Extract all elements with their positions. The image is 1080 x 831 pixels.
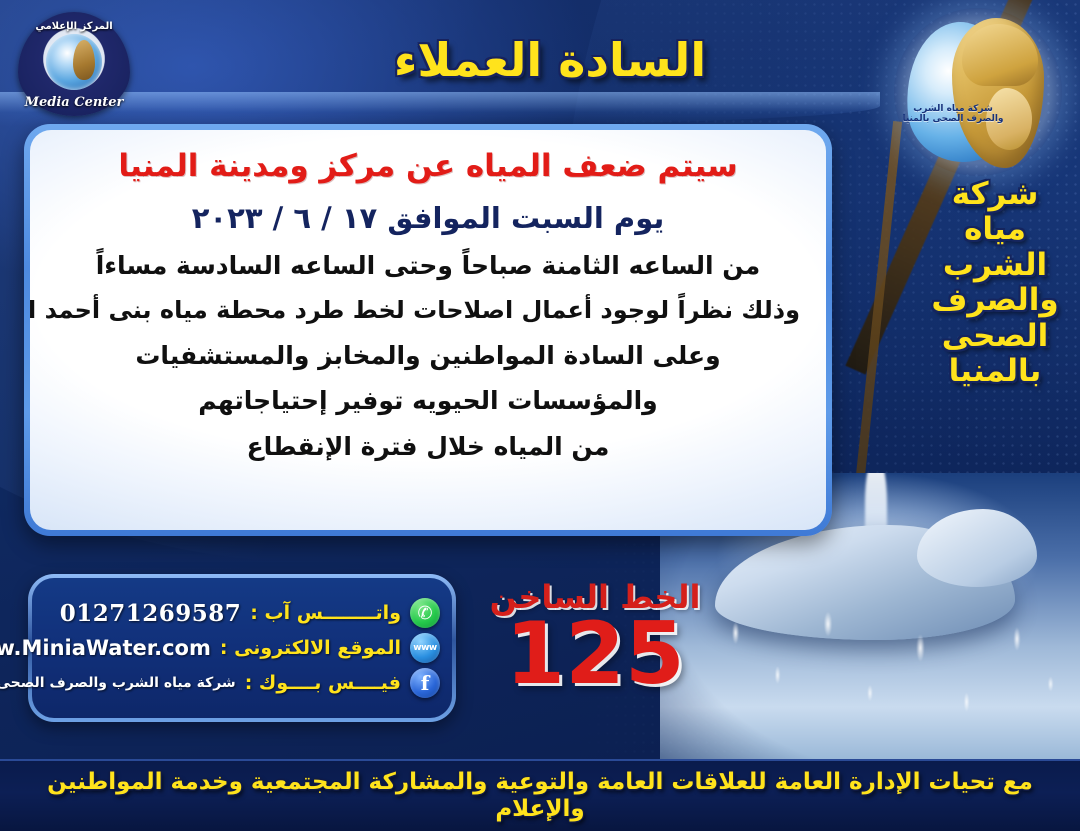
announcement-line-6: والمؤسسات الحيويه توفير إحتياجاتهم	[56, 386, 800, 416]
contact-panel-inner: ✆ واتــــــــس آب : 01271269587 www المو…	[32, 578, 452, 718]
footer-text: مع تحيات الإدارة العامة للعلاقات العامة …	[10, 769, 1070, 823]
announcement-box: سيتم ضعف المياه عن مركز ومدينة المنيا يو…	[24, 124, 832, 536]
contact-row-website[interactable]: www الموقع الالكترونى : www.MiniaWater.c…	[42, 633, 440, 663]
announcement-line-5: وعلى السادة المواطنين والمخابز والمستشفي…	[56, 341, 800, 371]
company-logo-caption: شركة مياه الشرب والصرف الصحى بالمنيا	[888, 104, 1018, 125]
facebook-label: فيــــس بــــوك :	[245, 672, 401, 694]
water-drop-globe-icon	[46, 34, 102, 90]
footer-bar: مع تحيات الإدارة العامة للعلاقات العامة …	[0, 759, 1080, 831]
company-name-vertical: شركة مياه الشرب والصرف الصحى بالمنيا	[920, 178, 1070, 389]
hotline-number: 125	[505, 614, 685, 696]
company-name-word-6: بالمنيا	[949, 355, 1042, 388]
company-logo-caption-line1: شركة مياه الشرب	[888, 104, 1018, 114]
company-name-word-3: الشرب	[943, 249, 1047, 282]
media-center-logo: المركز الإعلامي Media Center	[18, 12, 130, 116]
announcement-line-7: من المياه خلال فترة الإنقطاع	[56, 432, 800, 462]
hotline-block: الخط الساخن 125	[470, 578, 720, 718]
announcement-line-4-reason: وذلك نظراً لوجود أعمال اصلاحات لخط طرد م…	[56, 296, 800, 324]
globe-www-icon: www	[410, 633, 440, 663]
website-url: www.MiniaWater.com	[0, 636, 211, 660]
website-label: الموقع الالكترونى :	[220, 637, 401, 659]
announcement-box-inner: سيتم ضعف المياه عن مركز ومدينة المنيا يو…	[30, 130, 826, 530]
announcement-line-3-time: من الساعه الثامنة صباحاً وحتى الساعه الس…	[56, 251, 800, 281]
company-name-word-2: مياه	[964, 213, 1026, 246]
whatsapp-label: واتــــــــس آب :	[250, 602, 401, 624]
facebook-page-name: شركة مياه الشرب والصرف الصحى بالمنيا	[0, 675, 236, 691]
announcement-poster: المركز الإعلامي Media Center السادة العم…	[0, 0, 1080, 831]
company-logo-caption-line2: والصرف الصحى بالمنيا	[888, 114, 1018, 124]
page-title: السادة العملاء	[250, 14, 850, 106]
contact-row-facebook[interactable]: f فيــــس بــــوك : شركة مياه الشرب والص…	[42, 668, 440, 698]
announcement-line-1: سيتم ضعف المياه عن مركز ومدينة المنيا	[56, 148, 800, 185]
hotline-label: الخط الساخن	[490, 578, 701, 616]
nefertiti-crown	[962, 24, 1038, 86]
company-name-word-1: شركة	[952, 178, 1039, 211]
contact-row-whatsapp[interactable]: ✆ واتــــــــس آب : 01271269587	[42, 598, 440, 628]
diagonal-accent-stripe-secondary	[839, 121, 902, 639]
cupped-hands	[715, 525, 1015, 640]
whatsapp-number: 01271269587	[60, 600, 242, 627]
company-name-word-4: والصرف	[931, 284, 1058, 317]
water-splash-droplets	[660, 603, 1080, 753]
whatsapp-icon: ✆	[410, 598, 440, 628]
facebook-icon: f	[410, 668, 440, 698]
announcement-line-2-date: يوم السبت الموافق ١٧ / ٦ / ٢٠٢٣	[56, 201, 800, 235]
water-stream	[865, 473, 887, 569]
company-logo: شركة مياه الشرب والصرف الصحى بالمنيا	[894, 8, 1062, 176]
contact-panel: ✆ واتــــــــس آب : 01271269587 www المو…	[28, 574, 456, 722]
company-name-word-5: الصحى	[942, 320, 1049, 353]
